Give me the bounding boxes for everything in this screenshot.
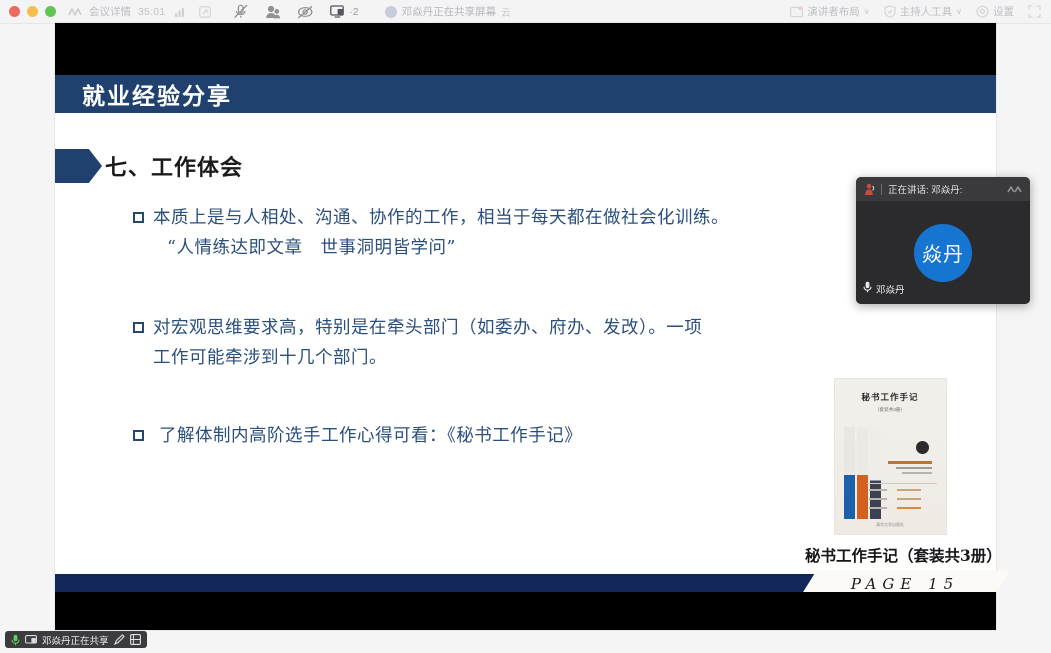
participants-icon[interactable] [265,5,281,19]
bullet-lines: 对宏观思维要求高，特别是在牵头部门（如委办、府办、发改）。一项 工作可能牵涉到十… [153,313,702,373]
header-divider [881,184,882,195]
signal-bars-icon[interactable] [175,6,187,17]
close-button[interactable] [9,6,20,17]
fullscreen-icon [1028,5,1041,18]
screen-icon[interactable] [25,635,37,645]
book-cover-title: 秘书工作手记 [835,391,946,403]
meeting-tools-group[interactable]: ·2 [233,4,358,19]
screen-share-badge: ·2 [349,6,358,18]
bullet-line: 本质上是与人相处、沟通、协作的工作，相当于每天都在做社会化训练。 [153,203,729,233]
video-panel-body[interactable]: 焱丹 邓焱丹 [856,201,1030,304]
maximize-button[interactable] [45,6,56,17]
book-cover-subtitle: （套装共3册） [835,407,946,413]
bullet-line: 工作可能牵涉到十几个部门。 [153,343,702,373]
meeting-timer: 35:01 [138,6,165,18]
bullet-square-icon [133,212,144,223]
avatar: 焱丹 [914,224,972,282]
bullet-square-icon [133,430,144,441]
chevron-down-icon: ∨ [956,7,962,16]
minimize-button[interactable] [27,6,38,17]
bullet-square-icon [133,322,144,333]
sharing-status-text: 邓焱丹正在共享 [42,633,109,647]
video-panel-header[interactable]: 正在讲话: 邓焱丹: [856,177,1030,201]
settings-button[interactable]: 设置 [976,4,1014,19]
slide-top-black-band [55,23,996,75]
microphone-on-icon[interactable] [11,634,20,646]
book-figure: 秘书工作手记 （套装共3册） 清华大学出版社 秘书工作手记（套装共3册） [805,378,975,566]
slide-section-title: 七、工作体会 [105,150,243,182]
host-tools-menu[interactable]: 主持人工具 ∨ [884,4,962,19]
book-caption: 秘书工作手记（套装共3册） [805,544,975,566]
book-publisher: 清华大学出版社 [835,522,946,528]
meeting-info-group[interactable]: 会议详情 35:01 [68,4,211,19]
bullet-line: “人情练达即文章 世事洞明皆学问” [153,233,729,263]
shared-screen-slide: 就业经验分享 七、工作体会 本质上是与人相处、沟通、协作的工作，相当于每天都在做… [55,23,996,630]
bullet-lines: 了解体制内高阶选手工作心得可看：《秘书工作手记》 [153,421,582,451]
slide-banner-title: 就业经验分享 [55,77,232,111]
host-tools-label: 主持人工具 [900,4,953,19]
app-root: 会议详情 35:01 [0,0,1051,653]
floating-video-panel[interactable]: 正在讲话: 邓焱丹: 焱丹 邓焱丹 [856,177,1030,304]
shield-icon [884,5,896,18]
exit-share-icon[interactable] [130,634,141,645]
microphone-icon [863,280,872,298]
gear-icon [976,5,989,18]
participant-name: 邓焱丹 [876,282,905,296]
sharing-notice[interactable]: 邓焱丹正在共享屏幕 云 [385,4,511,19]
sharing-notice-text: 邓焱丹正在共享屏幕 [402,4,497,19]
fullscreen-button[interactable] [1028,5,1041,18]
slide-banner: 就业经验分享 [55,75,996,113]
slide-bottom-black-band [55,592,996,630]
video-panel-footer: 邓焱丹 [863,280,905,298]
meeting-top-bar: 会议详情 35:01 [0,0,1051,24]
speaker-layout-menu[interactable]: 演讲者布局 ∨ [790,4,869,19]
topbar-right-group[interactable]: 演讲者布局 ∨ 主持人工具 ∨ 设置 [790,4,1051,19]
page-number-label: PAGE 15 [851,575,959,593]
bullet-line: 了解体制内高阶选手工作心得可看：《秘书工作手记》 [153,421,582,451]
bullet-item: 对宏观思维要求高，特别是在牵头部门（如委办、府办、发改）。一项 工作可能牵涉到十… [133,313,996,373]
meeting-logo-icon [68,7,82,17]
bullet-line: 对宏观思维要求高，特别是在牵头部门（如委办、府办、发改）。一项 [153,313,702,343]
collapse-chevrons-icon[interactable] [1007,184,1023,195]
screen-share-icon[interactable]: ·2 [330,5,358,18]
popout-window-icon[interactable] [199,6,211,18]
speaking-person-icon [863,183,875,195]
book-cover-image: 秘书工作手记 （套装共3册） 清华大学出版社 [834,378,947,535]
user-avatar-icon [385,6,397,18]
settings-label: 设置 [993,4,1014,19]
cloud-label: 云 [501,5,511,19]
bullet-lines: 本质上是与人相处、沟通、协作的工作，相当于每天都在做社会化训练。 “人情练达即文… [153,203,729,263]
slide-section-row: 七、工作体会 [55,145,996,187]
layout-icon [790,6,803,18]
mic-muted-icon[interactable] [233,4,249,19]
pencil-annotate-icon[interactable] [114,634,125,645]
camera-off-icon[interactable] [297,5,314,19]
arrow-marker-icon [55,149,102,183]
window-controls[interactable] [0,6,56,17]
sharing-status-bar[interactable]: 邓焱丹正在共享 [5,631,147,648]
video-panel-header-text: 正在讲话: 邓焱丹: [888,182,962,196]
chevron-down-icon: ∨ [864,7,870,16]
speaker-layout-label: 演讲者布局 [807,4,860,19]
meeting-info-label[interactable]: 会议详情 [89,4,131,19]
